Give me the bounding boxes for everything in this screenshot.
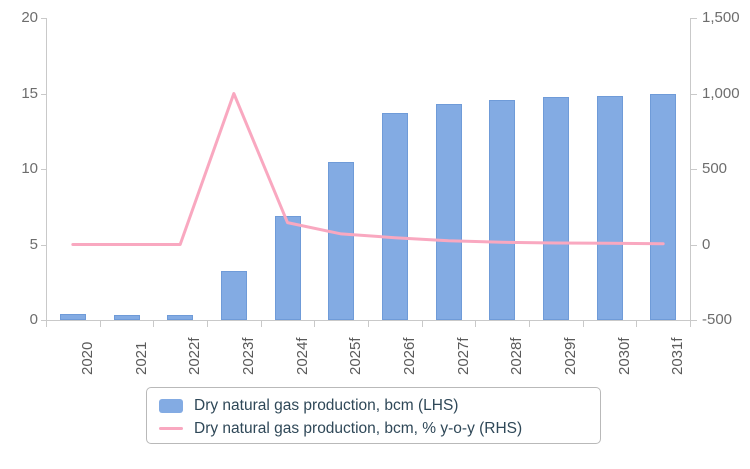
x-tick-mark [100, 321, 101, 327]
right-axis-tick-label: 1,500 [702, 10, 740, 25]
right-tick-mark [691, 245, 697, 246]
chart-container: 05101520 -50005001,0001,500 202020212022… [0, 0, 750, 469]
x-tick-mark [529, 321, 530, 327]
right-axis-tick-label: 1,000 [702, 86, 740, 101]
right-tick-mark [691, 320, 697, 321]
left-axis-tick-label: 10 [4, 161, 38, 176]
legend-label-bars: Dry natural gas production, bcm (LHS) [194, 397, 458, 415]
x-axis-label-2028f: 2028f [509, 337, 524, 375]
x-axis-label-2024f: 2024f [295, 337, 310, 375]
right-tick-mark [691, 94, 697, 95]
x-axis-label-2023f: 2023f [241, 337, 256, 375]
legend-item-bars[interactable]: Dry natural gas production, bcm (LHS) [159, 394, 590, 417]
x-axis-label-2025f: 2025f [348, 337, 363, 375]
line-series-layer [46, 18, 690, 320]
x-axis-label-2027f: 2027f [456, 337, 471, 375]
x-tick-mark [636, 321, 637, 327]
x-tick-mark [583, 321, 584, 327]
legend-label-line: Dry natural gas production, bcm, % y-o-y… [194, 420, 522, 438]
x-tick-mark [153, 321, 154, 327]
x-axis-label-2021: 2021 [134, 342, 149, 375]
x-axis-label-2020: 2020 [80, 342, 95, 375]
x-tick-mark [690, 321, 691, 327]
right-tick-mark [691, 18, 697, 19]
left-axis-tick-label: 5 [4, 237, 38, 252]
x-tick-mark [475, 321, 476, 327]
chart-legend: Dry natural gas production, bcm (LHS) Dr… [146, 387, 601, 444]
bar-swatch-icon [159, 399, 183, 413]
right-axis-tick-label: 500 [702, 161, 727, 176]
right-axis-tick-label: 0 [702, 237, 710, 252]
x-axis-label-2029f: 2029f [563, 337, 578, 375]
legend-item-line[interactable]: Dry natural gas production, bcm, % y-o-y… [159, 417, 590, 440]
x-axis-label-2030f: 2030f [617, 337, 632, 375]
line-swatch-icon [159, 427, 183, 430]
x-tick-mark [261, 321, 262, 327]
right-axis-tick-label: -500 [702, 312, 732, 327]
left-axis-tick-label: 0 [4, 312, 38, 327]
x-tick-mark [422, 321, 423, 327]
yoy-line-path [73, 94, 663, 245]
right-tick-mark [691, 169, 697, 170]
x-axis-label-2022f: 2022f [187, 337, 202, 375]
x-tick-mark [368, 321, 369, 327]
x-tick-mark [46, 321, 47, 327]
x-axis-label-2026f: 2026f [402, 337, 417, 375]
x-axis-label-2031f: 2031f [670, 337, 685, 375]
x-tick-mark [207, 321, 208, 327]
x-tick-mark [314, 321, 315, 327]
left-axis-tick-label: 15 [4, 86, 38, 101]
left-axis-tick-label: 20 [4, 10, 38, 25]
